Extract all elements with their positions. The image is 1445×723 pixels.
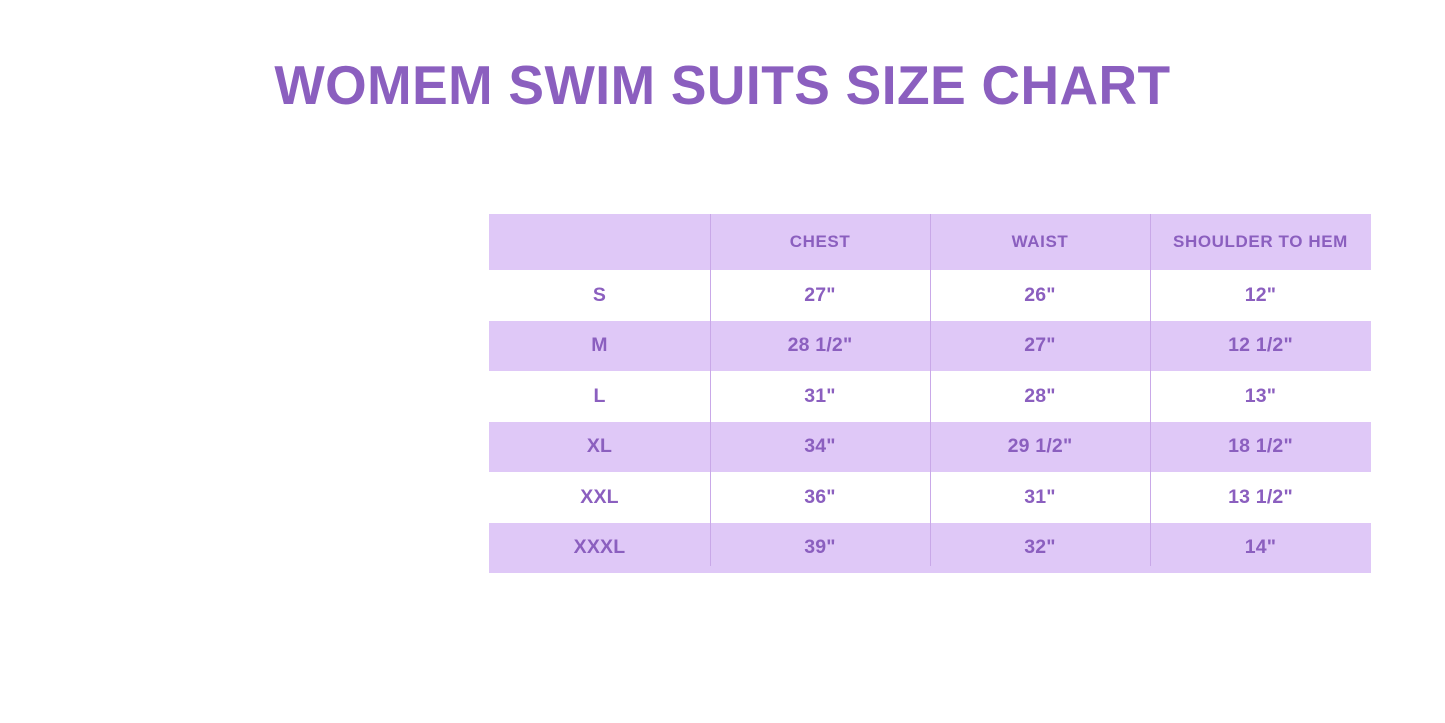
cell-shoulder-to-hem: 12" [1150, 270, 1371, 321]
table-row: XXXL 39" 32" 14" [489, 523, 1371, 574]
column-header-waist: WAIST [930, 214, 1150, 270]
cell-size: XXL [489, 472, 710, 523]
cell-shoulder-to-hem: 18 1/2" [1150, 422, 1371, 473]
column-header-shoulder-to-hem: SHOULDER TO HEM [1150, 214, 1371, 270]
table-row: XXL 36" 31" 13 1/2" [489, 472, 1371, 523]
cell-waist: 32" [930, 523, 1150, 574]
cell-waist: 31" [930, 472, 1150, 523]
cell-chest: 28 1/2" [710, 321, 930, 372]
cell-size: XXXL [489, 523, 710, 574]
cell-shoulder-to-hem: 13" [1150, 371, 1371, 422]
cell-shoulder-to-hem: 12 1/2" [1150, 321, 1371, 372]
cell-chest: 27" [710, 270, 930, 321]
size-chart-table: CHEST WAIST SHOULDER TO HEM S 27" 26" 12… [489, 214, 1371, 573]
cell-size: XL [489, 422, 710, 473]
cell-waist: 28" [930, 371, 1150, 422]
table-row: L 31" 28" 13" [489, 371, 1371, 422]
table-header-row: CHEST WAIST SHOULDER TO HEM [489, 214, 1371, 270]
cell-chest: 36" [710, 472, 930, 523]
table-row: XL 34" 29 1/2" 18 1/2" [489, 422, 1371, 473]
cell-size: L [489, 371, 710, 422]
column-header-size [489, 214, 710, 270]
cell-waist: 29 1/2" [930, 422, 1150, 473]
cell-chest: 34" [710, 422, 930, 473]
cell-chest: 31" [710, 371, 930, 422]
cell-chest: 39" [710, 523, 930, 574]
cell-shoulder-to-hem: 13 1/2" [1150, 472, 1371, 523]
page-title: WOMEM SWIM SUITS SIZE CHART [22, 57, 1424, 115]
column-header-chest: CHEST [710, 214, 930, 270]
cell-shoulder-to-hem: 14" [1150, 523, 1371, 574]
cell-waist: 26" [930, 270, 1150, 321]
cell-size: S [489, 270, 710, 321]
size-chart-table-container: CHEST WAIST SHOULDER TO HEM S 27" 26" 12… [489, 214, 1371, 566]
table-row: S 27" 26" 12" [489, 270, 1371, 321]
cell-size: M [489, 321, 710, 372]
table-row: M 28 1/2" 27" 12 1/2" [489, 321, 1371, 372]
cell-waist: 27" [930, 321, 1150, 372]
